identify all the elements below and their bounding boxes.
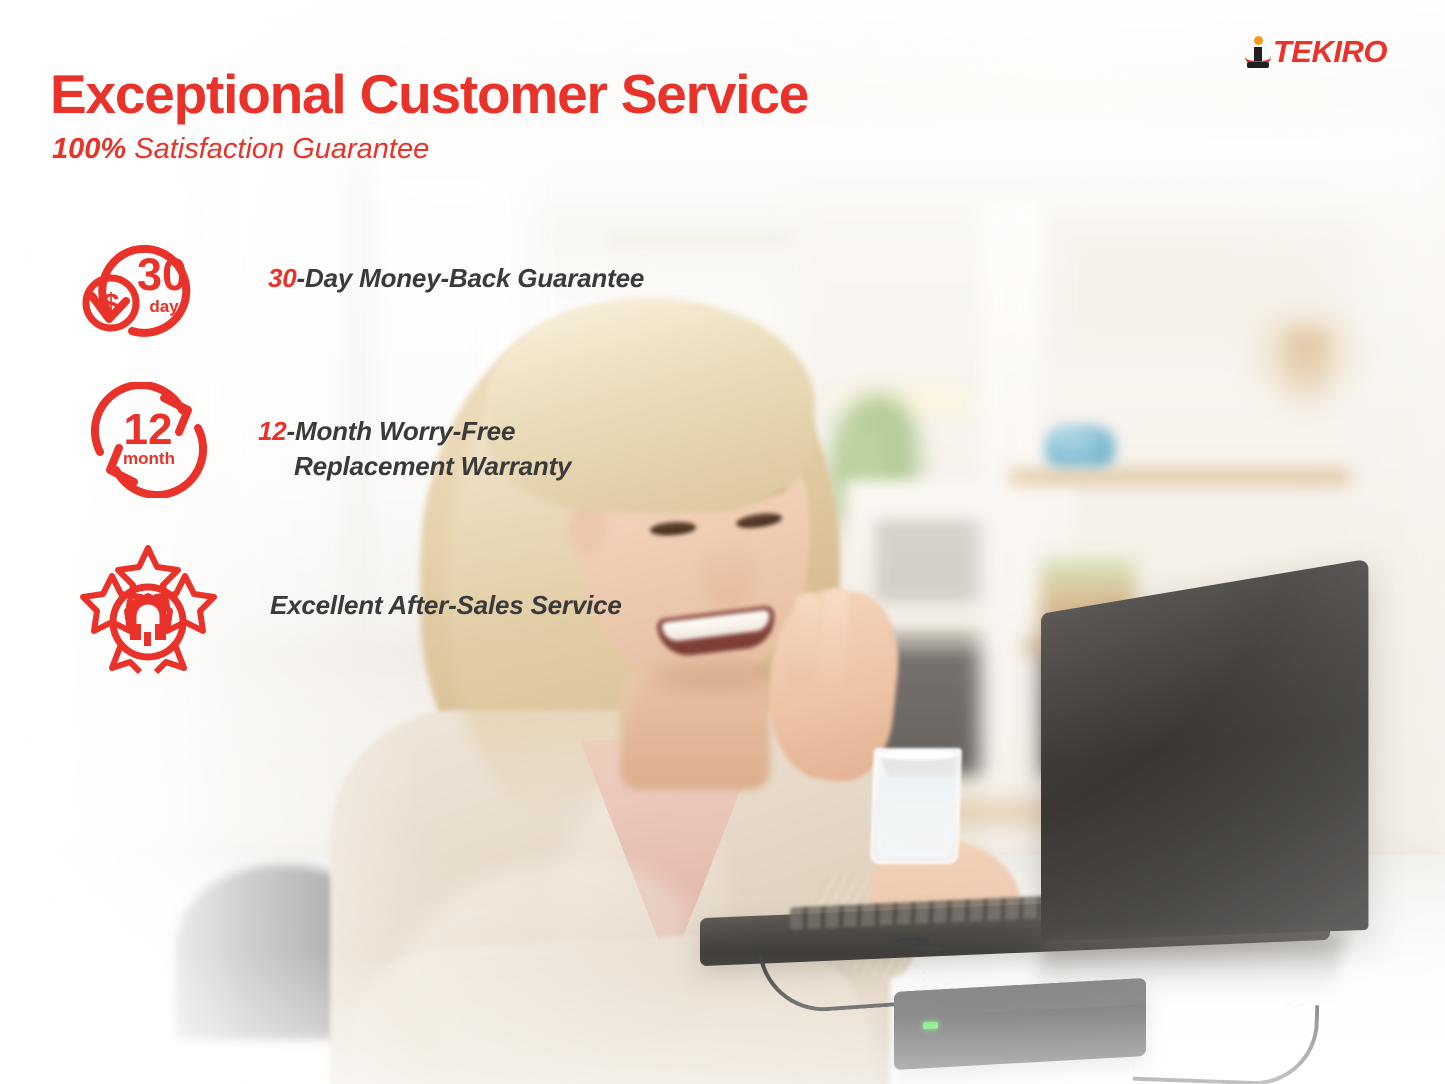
feature-rest: -Month Worry-Free	[287, 416, 516, 446]
icon-unit-day: day	[149, 297, 179, 316]
feature-rest: -Day Money-Back Guarantee	[297, 263, 645, 293]
svg-text:$: $	[103, 288, 120, 321]
feature-line2: Replacement Warranty	[258, 449, 571, 484]
subtitle-rest: Satisfaction Guarantee	[126, 133, 429, 165]
tekiro-logo: TEKIRO	[1245, 34, 1387, 70]
icon-unit-month: month	[123, 449, 175, 468]
feature-rest: Excellent After-Sales Service	[270, 590, 622, 620]
award-icon-svg	[78, 540, 218, 674]
feature-warranty-text: 12-Month Worry-FreeReplacement Warranty	[258, 414, 571, 484]
tekiro-i-mark-icon	[1245, 36, 1271, 68]
logo-wordmark: TEKIRO	[1273, 34, 1387, 70]
twelve-month-replacement-icon: 12 month	[84, 382, 214, 503]
headset-earpiece-left	[130, 624, 141, 640]
after-sales-award-icon	[78, 540, 218, 679]
logo-base	[1247, 62, 1269, 68]
thirty-day-icon-svg: $ 30 day	[80, 228, 220, 348]
thirty-day-money-back-icon: $ 30 day	[80, 228, 220, 353]
feature-highlight: 30	[268, 263, 297, 293]
icon-number-12: 12	[124, 405, 173, 454]
page-title: Exceptional Customer Service	[50, 66, 808, 124]
feature-money-back-text: 30-Day Money-Back Guarantee	[268, 261, 644, 296]
subtitle-percent: 100%	[52, 133, 126, 165]
feature-after-sales-text: Excellent After-Sales Service	[270, 588, 622, 623]
feature-warranty: 12 month 12-Month Worry-FreeReplacement …	[84, 382, 571, 503]
headset-earpiece-right	[155, 624, 166, 640]
headset-band	[133, 601, 163, 626]
page-subtitle: 100% Satisfaction Guarantee	[52, 133, 429, 166]
marketing-banner: TEKIRO Exceptional Customer Service 100%…	[0, 0, 1445, 1084]
overlay-content: TEKIRO Exceptional Customer Service 100%…	[0, 0, 1445, 1084]
feature-highlight: 12	[258, 416, 287, 446]
icon-number-30: 30	[137, 249, 187, 300]
feature-money-back: $ 30 day 30-Day Money-Back Guarantee	[80, 228, 644, 353]
headset-mic	[144, 632, 151, 646]
logo-dot	[1254, 36, 1263, 45]
feature-after-sales: Excellent After-Sales Service	[78, 540, 622, 679]
twelve-month-icon-svg: 12 month	[84, 382, 214, 498]
